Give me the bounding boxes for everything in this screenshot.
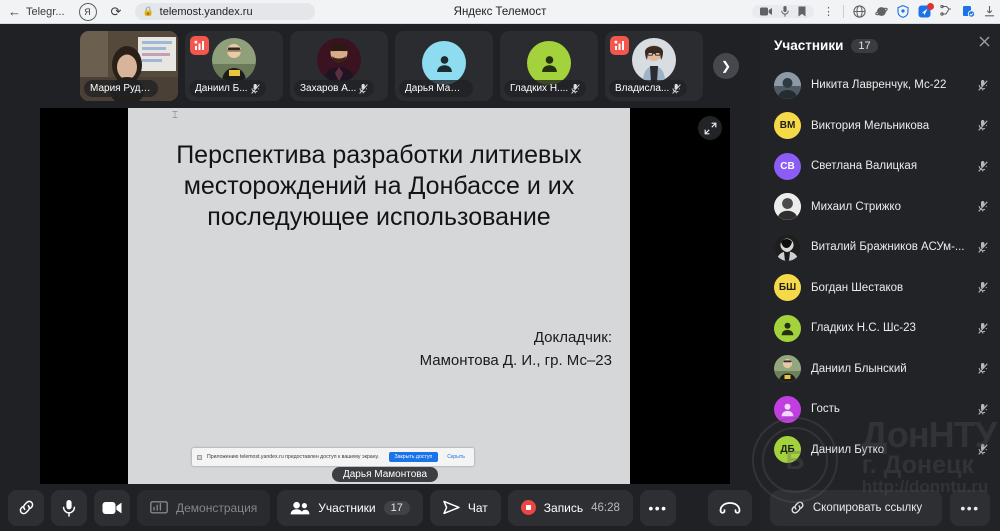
participant-name: Светлана Валицкая xyxy=(811,160,968,172)
mic-off-icon xyxy=(251,84,260,94)
mic-off-icon xyxy=(978,444,988,455)
thumbnail-name-pill: Гладких Н.... xyxy=(504,80,586,97)
close-icon xyxy=(979,36,990,47)
participants-panel-header: Участники 17 xyxy=(760,24,1000,63)
mic-off-icon xyxy=(978,242,988,253)
record-stop-icon xyxy=(521,500,536,515)
copy-link-label: Скопировать ссылку xyxy=(813,502,922,514)
copy-link-panel-button[interactable]: Скопировать ссылку xyxy=(770,490,942,526)
mic-off-icon xyxy=(359,84,368,94)
browser-toolbar: ← Telegr... Я ⟳ 🔒 telemost.yandex.ru Янд… xyxy=(0,0,1000,24)
presentation-slide: ⌶ Перспектива разработки литиевых местор… xyxy=(128,108,630,484)
camera-button[interactable] xyxy=(94,490,130,526)
slide-subtitle-line1: Докладчик: xyxy=(420,326,612,349)
close-panel-button[interactable] xyxy=(979,36,990,47)
participant-row[interactable]: ВМ Виктория Мельникова xyxy=(760,106,1000,147)
avatar-initials: БШ xyxy=(779,282,796,293)
mic-off-icon xyxy=(978,120,988,131)
back-button[interactable]: ← Telegr... xyxy=(0,5,65,18)
thumbnail-name: Захаров А... xyxy=(300,83,356,94)
participant-name: Михаил Стрижко xyxy=(811,201,968,213)
more-horizontal-icon: ••• xyxy=(648,503,667,513)
people-icon xyxy=(290,501,310,515)
thumbnail-name: Дарья Мамон... xyxy=(405,83,467,94)
expand-fullscreen-button[interactable] xyxy=(698,116,722,140)
thumbnail-name: Даниил Б... xyxy=(195,83,248,94)
hangup-button[interactable] xyxy=(708,490,752,526)
avatar xyxy=(774,396,801,423)
meeting-stage: Мария Руден... xyxy=(0,24,760,484)
thumbnail-name-pill: Дарья Мамон... xyxy=(399,80,473,97)
person-icon xyxy=(780,402,795,417)
participant-row[interactable]: Гладких Н.С. Шс-23 xyxy=(760,308,1000,349)
expand-fullscreen-icon xyxy=(704,122,717,135)
presenter-name-pill: Дарья Мамонтова xyxy=(332,467,438,482)
bookmark-icon[interactable] xyxy=(798,6,806,17)
participant-name: Гладких Н.С. Шс-23 xyxy=(811,322,968,334)
avatar: БШ xyxy=(774,274,801,301)
thumbnail-name: Владисла... xyxy=(615,83,669,94)
thumbnail-name: Мария Руден... xyxy=(90,83,152,94)
participant-row[interactable]: ДБ Даниил Бутко xyxy=(760,430,1000,471)
shared-screen[interactable]: ⌶ Перспектива разработки литиевых местор… xyxy=(40,108,730,484)
thumbnail-tile[interactable]: Захаров А... xyxy=(290,31,388,101)
panel-bottom-bar: Скопировать ссылку ••• xyxy=(760,484,1000,531)
participant-row[interactable]: Даниил Блынский xyxy=(760,349,1000,390)
thumbnail-tile[interactable]: Дарья Мамон... xyxy=(395,31,493,101)
record-label: Запись xyxy=(544,501,583,515)
avatar-photo xyxy=(774,234,801,261)
avatar-photo xyxy=(774,193,801,220)
participants-count-badge: 17 xyxy=(851,39,877,53)
mic-off-icon xyxy=(978,80,988,91)
mic-off-icon xyxy=(978,201,988,212)
slide-subtitle: Докладчик: Мамонтова Д. И., гр. Мс–23 xyxy=(420,326,612,373)
avatar xyxy=(774,234,801,261)
avatar xyxy=(774,72,801,99)
mic-off-icon xyxy=(672,84,681,94)
microphone-button[interactable] xyxy=(51,490,87,526)
participants-thumbnail-strip: Мария Руден... xyxy=(0,28,760,104)
browser-actions: ⋮ xyxy=(752,5,1000,18)
link-icon xyxy=(790,500,805,515)
avatar-placeholder xyxy=(527,41,571,85)
avatar: СВ xyxy=(774,153,801,180)
hide-infobar-button[interactable]: Скрыть xyxy=(443,454,469,460)
text-cursor-icon: ⌶ xyxy=(172,110,178,121)
record-button[interactable]: Запись 46:28 xyxy=(508,490,633,526)
microphone-icon[interactable] xyxy=(781,6,789,17)
microphone-icon xyxy=(62,499,76,517)
globe-icon[interactable] xyxy=(853,5,866,18)
divider xyxy=(843,5,844,18)
avatar-photo xyxy=(774,355,801,382)
participant-name: Даниил Бутко xyxy=(811,444,968,456)
avatar-photo xyxy=(212,38,256,82)
participant-row[interactable]: СВ Светлана Валицкая xyxy=(760,146,1000,187)
record-timer: 46:28 xyxy=(591,502,620,514)
pin-icon[interactable] xyxy=(940,5,953,18)
messenger-icon[interactable] xyxy=(918,5,931,18)
slide-subtitle-line2: Мамонтова Д. И., гр. Мс–23 xyxy=(420,349,612,372)
participant-row[interactable]: БШ Богдан Шестаков xyxy=(760,268,1000,309)
avatar-placeholder xyxy=(422,41,466,85)
thumbnail-tile[interactable]: Гладких Н.... xyxy=(500,31,598,101)
participants-button-count: 17 xyxy=(384,501,410,515)
participant-row[interactable]: Виталий Бражников АСУм-... xyxy=(760,227,1000,268)
participant-name: Гость xyxy=(811,403,968,415)
thumbnail-tile[interactable]: Мария Руден... xyxy=(80,31,178,101)
participant-name: Даниил Блынский xyxy=(811,363,968,375)
reload-icon[interactable]: ⟳ xyxy=(111,4,122,20)
screen-share-button[interactable]: Демонстрация xyxy=(137,490,270,526)
slide-title: Перспектива разработки литиевых месторож… xyxy=(150,140,608,233)
thumbnail-name-pill: Захаров А... xyxy=(294,80,374,97)
sync-icon[interactable] xyxy=(962,5,975,18)
address-bar[interactable]: 🔒 telemost.yandex.ru xyxy=(135,3,315,20)
screen-share-infobar: Приложению telemost.yandex.ru предоставл… xyxy=(192,448,474,466)
avatar-initials: СВ xyxy=(780,161,794,172)
link-icon xyxy=(18,499,35,516)
participants-button-label: Участники xyxy=(318,501,375,515)
mic-off-icon xyxy=(978,404,988,415)
screen-share-badge-icon xyxy=(610,36,629,55)
avatar-photo xyxy=(774,72,801,99)
screen-share-icon xyxy=(197,455,202,460)
thumbnail-name-pill: Мария Руден... xyxy=(84,80,158,97)
participant-name: Никита Лавренчук, Мс-22 xyxy=(811,79,968,91)
telemost-meeting-window: ← Telegr... Я ⟳ 🔒 telemost.yandex.ru Янд… xyxy=(0,0,1000,531)
chat-button[interactable]: Чат xyxy=(430,490,501,526)
thumbnail-name: Гладких Н.... xyxy=(510,83,568,94)
avatar xyxy=(774,315,801,342)
screen-share-badge-icon xyxy=(190,36,209,55)
participant-name: Виктория Мельникова xyxy=(811,120,968,132)
stop-sharing-button[interactable]: Закрыть доступ xyxy=(389,452,439,462)
participant-row[interactable]: Никита Лавренчук, Мс-22 xyxy=(760,65,1000,106)
kebab-menu-icon[interactable]: ⋮ xyxy=(823,5,834,18)
mic-off-icon xyxy=(978,363,988,374)
copy-link-button[interactable] xyxy=(8,490,44,526)
participants-button[interactable]: Участники 17 xyxy=(277,490,423,526)
back-arrow-icon: ← xyxy=(8,5,21,18)
share-indicator-pill[interactable] xyxy=(752,5,814,18)
person-icon xyxy=(540,54,559,73)
screen-share-icon xyxy=(150,501,168,515)
planet-icon[interactable] xyxy=(875,5,888,18)
thumbnail-tile[interactable]: Даниил Б... xyxy=(185,31,283,101)
meeting-toolbar: Демонстрация Участники 17 Чат Запись 46:… xyxy=(0,484,760,531)
avatar xyxy=(774,355,801,382)
download-icon[interactable] xyxy=(984,5,995,18)
avatar xyxy=(774,193,801,220)
chat-button-label: Чат xyxy=(468,501,488,515)
strip-next-button[interactable]: ❯ xyxy=(713,53,739,79)
person-icon xyxy=(435,54,454,73)
participant-row[interactable]: Михаил Стрижко xyxy=(760,187,1000,228)
panel-more-button[interactable]: ••• xyxy=(950,490,990,526)
chevron-right-icon: ❯ xyxy=(721,59,731,73)
participant-row[interactable]: Гость xyxy=(760,389,1000,430)
mic-off-icon xyxy=(978,161,988,172)
camera-icon[interactable] xyxy=(760,7,772,16)
avatar-initials: ДБ xyxy=(780,444,794,455)
avatar-photo xyxy=(317,38,361,82)
participants-panel: Участники 17 Никита Лавренчук, Мс-22 ВМ … xyxy=(760,24,1000,531)
yandex-logo-icon[interactable]: Я xyxy=(79,3,97,21)
participants-list: Никита Лавренчук, Мс-22 ВМ Виктория Мель… xyxy=(760,63,1000,470)
more-horizontal-icon: ••• xyxy=(960,503,979,513)
participant-name: Богдан Шестаков xyxy=(811,282,968,294)
shield-icon[interactable] xyxy=(897,5,909,18)
camera-icon xyxy=(102,501,122,515)
hangup-icon xyxy=(719,502,741,514)
mic-off-icon xyxy=(978,323,988,334)
address-bar-url: telemost.yandex.ru xyxy=(160,6,253,18)
avatar-initials: ВМ xyxy=(780,120,796,131)
thumbnail-name-pill: Владисла... xyxy=(609,80,687,97)
mic-off-icon xyxy=(978,282,988,293)
avatar-photo xyxy=(632,38,676,82)
mic-off-icon xyxy=(571,84,580,94)
participants-panel-title: Участники xyxy=(774,38,843,53)
lock-icon: 🔒 xyxy=(142,6,153,17)
participant-name: Виталий Бражников АСУм-... xyxy=(811,241,968,253)
avatar: ДБ xyxy=(774,436,801,463)
back-button-label: Telegr... xyxy=(26,6,65,18)
screen-share-message: Приложению telemost.yandex.ru предоставл… xyxy=(207,454,384,460)
more-options-button[interactable]: ••• xyxy=(640,490,676,526)
thumbnail-tile[interactable]: Владисла... xyxy=(605,31,703,101)
screen-share-label: Демонстрация xyxy=(176,501,257,515)
thumbnail-name-pill: Даниил Б... xyxy=(189,80,266,97)
person-icon xyxy=(780,321,795,336)
avatar: ВМ xyxy=(774,112,801,139)
send-icon xyxy=(443,500,460,515)
